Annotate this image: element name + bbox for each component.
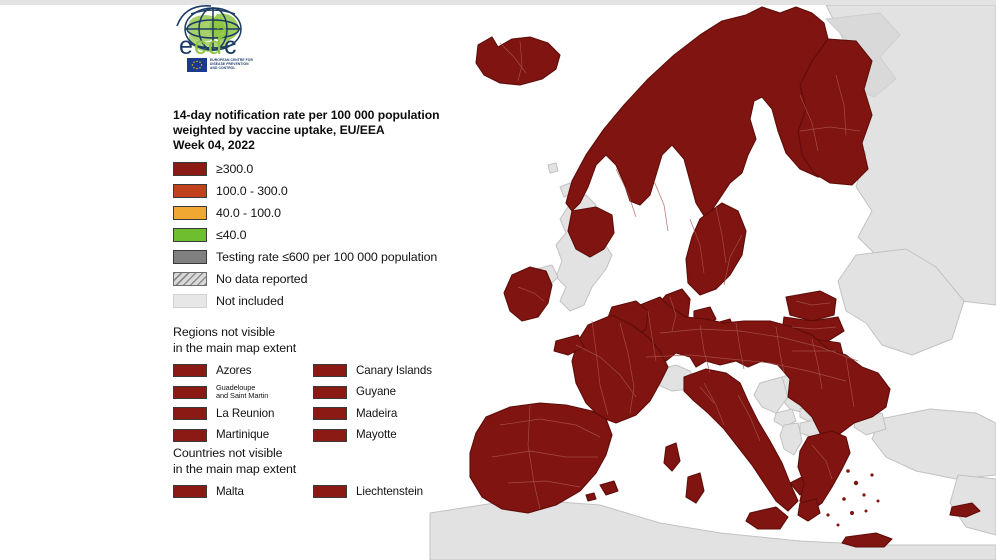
legend-swatch-no-data [173,272,207,286]
legend-swatch-low-testing [173,250,207,264]
region-label-guyane: Guyane [356,386,396,398]
region-item-martinique[interactable]: Martinique [173,425,313,447]
svg-text:e: e [179,32,193,60]
country-swatch-malta [173,485,207,498]
country-item-malta[interactable]: Malta [173,481,313,503]
legend-swatch-not-included [173,294,207,308]
region-item-canary-islands[interactable]: Canary Islands [313,360,463,382]
ecdc-covid-map-page: e c d c EUROPEAN CENTRE F [0,0,996,560]
regions-heading: Regions not visible in the main map exte… [173,325,463,356]
country-estonia [786,291,836,321]
regions-column-right: Canary Islands Guyane Madeira Mayotte [313,360,463,446]
svg-text:c: c [224,32,237,60]
regions-column-left: Azores Guadeloupe and Saint Martin La Re… [173,360,313,446]
region-swatch-guadeloupe [173,386,207,399]
legend-swatch-100-300 [173,184,207,198]
regions-not-visible-section: Regions not visible in the main map exte… [173,325,463,446]
countries-not-visible-section: Countries not visible in the main map ex… [173,446,463,503]
region-item-mayotte[interactable]: Mayotte [313,425,463,447]
country-label-malta: Malta [216,486,244,498]
region-label-mayotte: Mayotte [356,429,397,441]
legend-label-300-plus: ≥300.0 [216,162,253,176]
legend-item-300-plus[interactable]: ≥300.0 [173,158,463,180]
legend-item-no-data[interactable]: No data reported [173,268,463,290]
legend-swatch-under-40 [173,228,207,242]
country-label-liechtenstein: Liechtenstein [356,486,423,498]
regions-grid: Azores Guadeloupe and Saint Martin La Re… [173,360,463,446]
region-label-martinique: Martinique [216,429,269,441]
country-swatch-liechtenstein [313,485,347,498]
countries-heading-line-1: Countries not visible [173,446,463,462]
legend-item-low-testing[interactable]: Testing rate ≤600 per 100 000 population [173,246,463,268]
region-item-guyane[interactable]: Guyane [313,382,463,404]
region-swatch-mayotte [313,429,347,442]
region-label-azores: Azores [216,365,251,377]
region-item-madeira[interactable]: Madeira [313,403,463,425]
countries-heading-line-2: in the main map extent [173,462,463,478]
region-label-la-reunion: La Reunion [216,408,274,420]
region-swatch-canary-islands [313,364,347,377]
map-svg [0,5,996,560]
eu-flag-caption: EUROPEAN CENTRE FOR DISEASE PREVENTION A… [210,58,270,71]
countries-heading: Countries not visible in the main map ex… [173,446,463,477]
europe-choropleth-map[interactable] [0,5,996,560]
region-label-guadeloupe: Guadeloupe and Saint Martin [216,384,268,401]
countries-column-left: Malta [173,481,313,503]
legend-item-under-40[interactable]: ≤40.0 [173,224,463,246]
region-item-guadeloupe[interactable]: Guadeloupe and Saint Martin [173,382,313,404]
legend-label-no-data: No data reported [216,272,307,286]
region-swatch-martinique [173,429,207,442]
legend-item-40-100[interactable]: 40.0 - 100.0 [173,202,463,224]
svg-text:c: c [194,32,207,60]
region-label-madeira: Madeira [356,408,397,420]
legend-panel: e c d c EUROPEAN CENTRE F [165,0,465,560]
legend-label-40-100: 40.0 - 100.0 [216,206,281,220]
legend-label-not-included: Not included [216,294,284,308]
country-item-liechtenstein[interactable]: Liechtenstein [313,481,463,503]
legend-label-low-testing: Testing rate ≤600 per 100 000 population [216,250,437,264]
map-title: 14-day notification rate per 100 000 pop… [173,108,469,154]
region-swatch-azores [173,364,207,377]
legend-swatch-40-100 [173,206,207,220]
title-line-1: 14-day notification rate per 100 000 pop… [173,108,469,123]
countries-column-right: Liechtenstein [313,481,463,503]
region-swatch-madeira [313,407,347,420]
ecdc-wordmark: e c d c [179,27,237,60]
title-line-2: weighted by vaccine uptake, EU/EEA [173,123,469,138]
regions-heading-line-2: in the main map extent [173,341,463,357]
legend-item-100-300[interactable]: 100.0 - 300.0 [173,180,463,202]
legend-list: ≥300.0 100.0 - 300.0 40.0 - 100.0 ≤40.0 … [173,158,463,312]
region-item-azores[interactable]: Azores [173,360,313,382]
region-label-canary-islands: Canary Islands [356,365,432,377]
regions-heading-line-1: Regions not visible [173,325,463,341]
eu-flag-icon [187,58,207,72]
countries-grid: Malta Liechtenstein [173,481,463,503]
region-swatch-la-reunion [173,407,207,420]
region-swatch-guyane [313,386,347,399]
legend-label-under-40: ≤40.0 [216,228,246,242]
ecdc-logo[interactable]: e c d c EUROPEAN CENTRE F [173,4,269,82]
legend-swatch-300-plus [173,162,207,176]
region-item-la-reunion[interactable]: La Reunion [173,403,313,425]
title-line-3: Week 04, 2022 [173,138,469,153]
legend-item-not-included[interactable]: Not included [173,290,463,312]
legend-label-100-300: 100.0 - 300.0 [216,184,288,198]
